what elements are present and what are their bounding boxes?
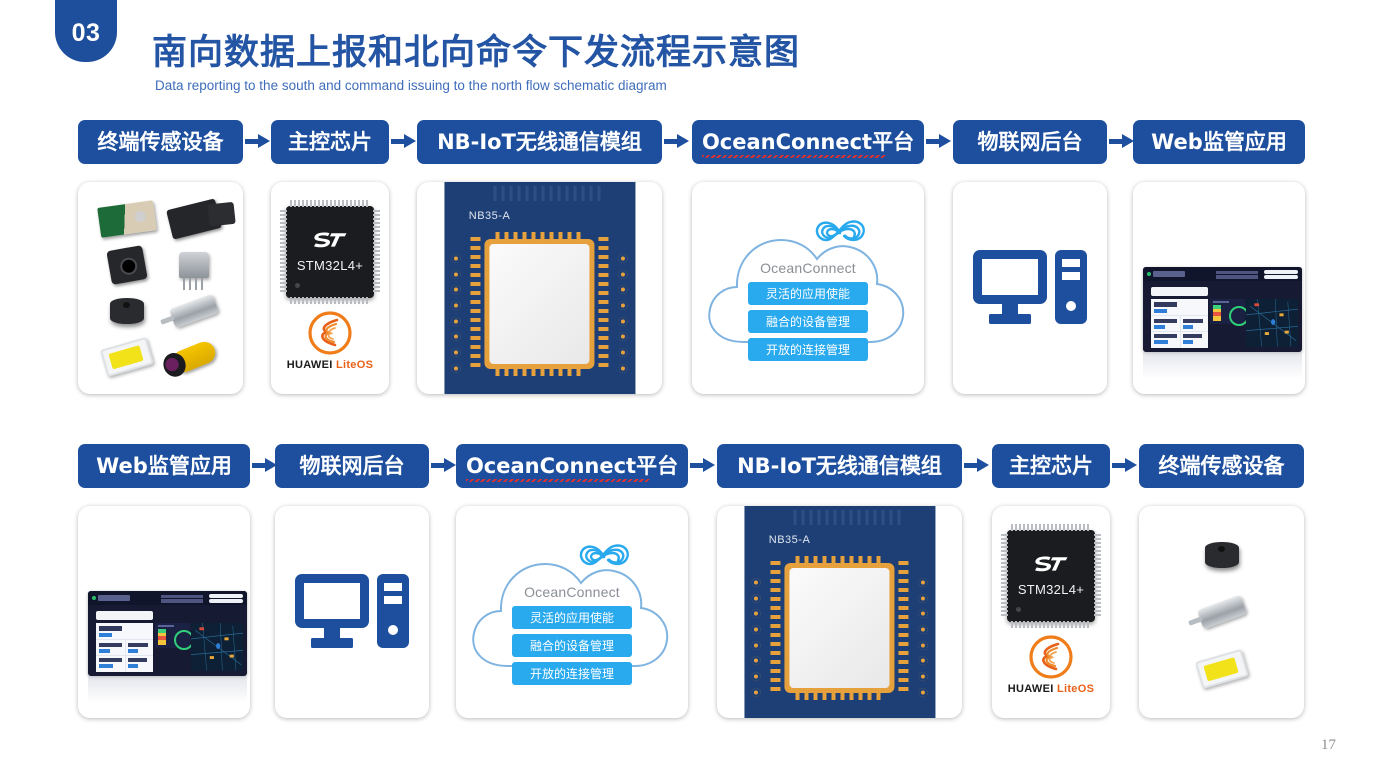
module-part-label: NB35-A [769,534,811,546]
capability-pill-list: 灵活的应用使能融合的设备管理开放的连接管理 [456,606,688,685]
pcb-via-icon [752,672,761,681]
flow-step-label: 主控芯片 [1009,456,1093,477]
huawei-liteos-logo-icon [307,310,353,356]
flow-step-chip[interactable]: 终端传感设备 [78,120,243,164]
dashboard-reflection [1143,352,1301,380]
pcb-via-icon [752,594,761,603]
flow-step-chip[interactable]: OceanConnect平台 [692,120,924,164]
flow-step-label: 物联网后台 [978,132,1083,153]
pcb-via-icon [918,656,927,665]
flow-step-card: NB35-A [717,506,962,718]
flow-arrow-icon [391,134,417,149]
status-dot-icon [92,596,96,600]
flow-step-card: STM32L4+HUAWEI LiteOS [271,182,389,394]
pcb-via-icon [452,301,461,310]
flow-step-card [78,506,250,718]
toolbar-pill-2 [1264,275,1298,278]
web-dashboard-illustration [78,506,250,718]
sensor-component-grid [78,182,243,394]
shield-surface [789,568,890,687]
stm32-package: STM32L4+ [1007,530,1095,622]
capability-pill: 开放的连接管理 [512,662,632,685]
pcb-via-icon [452,254,461,263]
pcb-via-icon [752,625,761,634]
flow-step-card: STM32L4+HUAWEI LiteOS [992,506,1110,718]
dc-motor-icon [169,294,219,329]
flow-step-chip[interactable]: 物联网后台 [953,120,1107,164]
smd-led-icon [1195,649,1249,689]
chip-pins-right-icon [1094,534,1101,618]
capability-pill-list: 灵活的应用使能融合的设备管理开放的连接管理 [692,282,924,361]
module-pcb: NB35-A [744,506,935,718]
pcb-vias-left [452,254,461,373]
oceanconnect-cloud-illustration: OceanConnect灵活的应用使能融合的设备管理开放的连接管理 [456,506,688,718]
card-track: STM32L4+HUAWEI LiteOSNB35-AOceanConnect灵… [0,182,1380,394]
shield-pads-left-icon [771,561,781,692]
pcb-via-icon [918,641,927,650]
flow-step-card: OceanConnect灵活的应用使能融合的设备管理开放的连接管理 [692,182,924,394]
toolbar-text-2 [1216,275,1258,278]
pcb-vias-right [918,578,927,697]
flow-arrow-icon [690,458,716,473]
pcb-vias-left [752,578,761,697]
module-pcb: NB35-A [444,182,635,394]
chip-track: Web监管应用物联网后台OceanConnect平台NB-IoT无线通信模组主控… [0,444,1380,500]
flow-step-card [78,182,243,394]
stm32-package: STM32L4+ [286,206,374,298]
desktop-computer-icon [293,564,411,661]
flow-step-card [953,182,1107,394]
mq2-gas-sensor-icon [179,252,209,278]
pcb-via-icon [618,301,627,310]
flow-step-label: Web监管应用 [96,456,232,477]
web-dashboard-illustration [1133,182,1305,394]
chip-pins-left-icon [280,210,287,294]
photoelectric-sensor-icon [169,339,218,376]
flow-step-chip[interactable]: OceanConnect平台 [456,444,688,488]
oceanconnect-title: OceanConnect [692,260,924,276]
toolbar-text [161,595,203,598]
dc-motor-icon [1196,595,1246,630]
pcb-via-icon [452,285,461,294]
rf-shield-can [784,563,895,692]
shield-surface [489,244,590,363]
pcb-via-icon [918,578,927,587]
oceanconnect-title: OceanConnect [456,584,688,600]
dashboard-titlebar [1143,267,1301,281]
flow-step-chip[interactable]: 主控芯片 [271,120,389,164]
pcb-via-icon [618,254,627,263]
flow-step-label: 物联网后台 [300,456,405,477]
part-number-label: STM32L4+ [297,258,363,273]
capability-pill: 灵活的应用使能 [512,606,632,629]
liteos-wordmark: HUAWEI LiteOS [287,359,373,371]
huawei-liteos-logo-icon [1028,634,1074,680]
toolbar-pill [1264,270,1298,273]
capability-pill: 融合的设备管理 [748,310,868,333]
module-part-label: NB35-A [469,210,511,222]
capability-pill: 融合的设备管理 [512,634,632,657]
pin1-marker-icon [295,283,300,288]
flow-step-card: NB35-A [417,182,662,394]
mcu-chip-illustration: STM32L4+HUAWEI LiteOS [992,506,1110,718]
nb-iot-module-illustration: NB35-A [717,506,962,718]
pcb-via-icon [618,317,627,326]
flow-arrow-icon [245,134,271,149]
dashboard-logo [98,595,130,601]
pcb-via-icon [752,578,761,587]
shield-pads-right-icon [599,237,609,368]
flow-arrow-icon [964,458,990,473]
flow-step-chip[interactable]: Web监管应用 [78,444,250,488]
chip-track: 终端传感设备主控芯片NB-IoT无线通信模组OceanConnect平台物联网后… [0,120,1380,176]
chip-pins-left-icon [1001,534,1008,618]
flow-step-label: OceanConnect平台 [466,456,678,477]
flow-step-chip[interactable]: NB-IoT无线通信模组 [717,444,962,488]
flow-arrow-icon [664,134,690,149]
desktop-computer-illustration [275,506,429,718]
pcb-via-icon [452,348,461,357]
toolbar-text-2 [161,599,203,602]
flow-step-label: OceanConnect平台 [702,132,914,153]
desktop-computer-illustration [953,182,1107,394]
pcb-via-icon [752,641,761,650]
page-number: 17 [1321,737,1336,754]
liteos-wordmark: HUAWEI LiteOS [1008,683,1094,695]
dashboard-window [88,591,246,676]
pcb-via-icon [618,270,627,279]
pcb-via-icon [618,332,627,341]
ir-sensor-icon [107,245,148,285]
pcb-via-icon [452,317,461,326]
toolbar-pill-2 [209,599,243,602]
mcu-chip-illustration: STM32L4+HUAWEI LiteOS [271,182,389,394]
page-title: 南向数据上报和北向命令下发流程示意图 [152,24,800,75]
capability-pill: 灵活的应用使能 [748,282,868,305]
flow-step-card [275,506,429,718]
dashboard-map-panel [1246,299,1298,347]
pcb-via-icon [618,285,627,294]
pcb-vias-right [618,254,627,373]
flow-step-chip[interactable]: 主控芯片 [992,444,1110,488]
pcb-via-icon [618,348,627,357]
page-subtitle: Data reporting to the south and command … [155,78,667,93]
pcb-via-icon [618,364,627,373]
flow-step-label: NB-IoT无线通信模组 [437,132,642,153]
gps-module-icon [97,200,157,238]
section-number: 03 [72,19,101,62]
pcb-via-icon [918,594,927,603]
dashboard-logo [1153,271,1185,277]
nb-iot-module-illustration: NB35-A [417,182,662,394]
pcb-via-icon [452,332,461,341]
dashboard-reflection [88,676,246,704]
flow-step-label: Web监管应用 [1151,132,1287,153]
flow-arrow-icon [252,458,278,473]
flow-step-label: NB-IoT无线通信模组 [737,456,942,477]
dashboard-metric-panel [1151,299,1208,348]
pcb-edge-connector [794,510,901,525]
pcb-edge-connector [494,186,601,201]
chip-pins-right-icon [373,210,380,294]
pcb-via-icon [918,672,927,681]
status-dot-icon [1147,272,1151,276]
smd-transistor-icon [166,198,222,239]
liteos-branding: HUAWEI LiteOS [287,310,373,371]
sensor-component-grid [1139,506,1304,718]
pcb-via-icon [452,364,461,373]
flow-arrow-icon [1109,134,1135,149]
capability-pill: 开放的连接管理 [748,338,868,361]
rf-shield-can [484,239,595,368]
flow-step-chip[interactable]: NB-IoT无线通信模组 [417,120,662,164]
st-logo-icon [312,230,348,252]
flow-step-label: 终端传感设备 [98,132,224,153]
pcb-via-icon [918,609,927,618]
dashboard-metric-panel [96,623,153,672]
flow-arrow-icon [926,134,952,149]
shield-pads-right-icon [899,561,909,692]
buzzer-icon [1205,542,1239,568]
flow-step-chip[interactable]: Web监管应用 [1133,120,1305,164]
dashboard-search-field[interactable] [1151,287,1208,295]
toolbar-pill [209,594,243,597]
flow-step-card: OceanConnect灵活的应用使能融合的设备管理开放的连接管理 [456,506,688,718]
st-logo-icon [1033,554,1069,576]
liteos-branding: HUAWEI LiteOS [1008,634,1094,695]
pin1-marker-icon [1016,607,1021,612]
flow-step-card [1133,182,1305,394]
pcb-via-icon [752,609,761,618]
flow-arrow-icon [431,458,457,473]
slide-header: 03 南向数据上报和北向命令下发流程示意图 Data reporting to … [0,0,1380,108]
flow-row-northbound: Web监管应用物联网后台OceanConnect平台NB-IoT无线通信模组主控… [0,444,1380,718]
flow-step-label: 终端传感设备 [1159,456,1285,477]
dashboard-titlebar [88,591,246,605]
pcb-via-icon [752,656,761,665]
pcb-via-icon [452,270,461,279]
pcb-via-icon [752,688,761,697]
flow-step-label: 主控芯片 [288,132,372,153]
part-number-label: STM32L4+ [1018,582,1084,597]
dashboard-search-field[interactable] [96,611,153,619]
section-number-badge: 03 [55,0,117,62]
flow-row-southbound: 终端传感设备主控芯片NB-IoT无线通信模组OceanConnect平台物联网后… [0,120,1380,394]
card-track: OceanConnect灵活的应用使能融合的设备管理开放的连接管理NB35-AS… [0,506,1380,718]
desktop-computer-icon [971,240,1089,337]
flow-step-card [1139,506,1304,718]
oceanconnect-cloud-illustration: OceanConnect灵活的应用使能融合的设备管理开放的连接管理 [692,182,924,394]
pcb-via-icon [918,688,927,697]
toolbar-text [1216,271,1258,274]
flow-arrow-icon [1112,458,1138,473]
smd-led-icon [100,337,154,377]
flow-step-chip[interactable]: 物联网后台 [275,444,429,488]
dashboard-map-panel [191,623,243,671]
pcb-via-icon [918,625,927,634]
shield-pads-left-icon [471,237,481,368]
flow-step-chip[interactable]: 终端传感设备 [1139,444,1304,488]
dashboard-window [1143,267,1301,352]
buzzer-icon [110,298,144,324]
